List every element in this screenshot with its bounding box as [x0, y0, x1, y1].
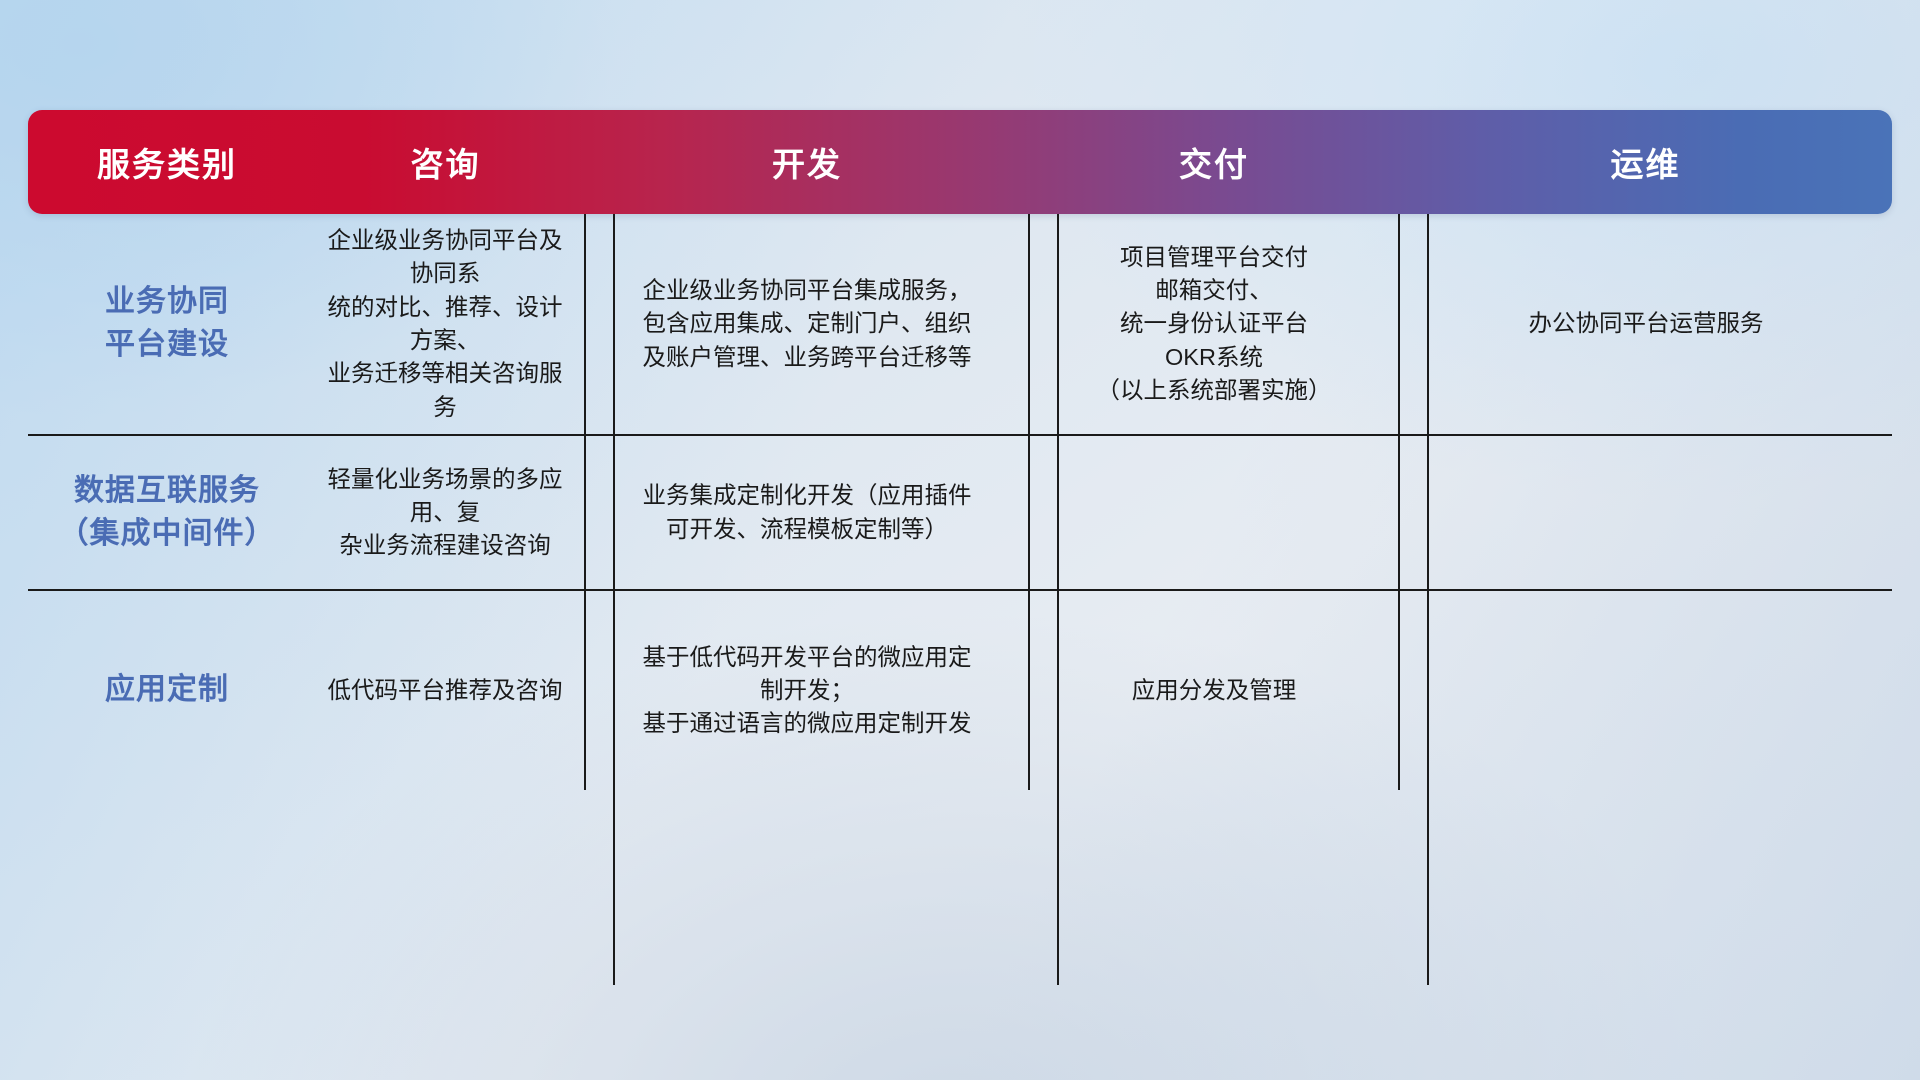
column-divider-1 — [613, 214, 615, 985]
cell-operate-1: 办公协同平台运营服务 — [1399, 214, 1892, 435]
cell-category-2: 数据互联服务 （集成中间件） — [28, 435, 306, 590]
table-row: 数据互联服务 （集成中间件） 轻量化业务场景的多应用、复 杂业务流程建设咨询 业… — [28, 435, 1892, 590]
slide-canvas: 服务类别 咨询 开发 交付 运维 业务协同 平台建设 企业级业务协同平台及协同系… — [0, 0, 1920, 1080]
cell-consult-3: 低代码平台推荐及咨询 — [306, 590, 585, 790]
cell-category-3: 应用定制 — [28, 590, 306, 790]
service-matrix-table: 业务协同 平台建设 企业级业务协同平台及协同系 统的对比、推荐、设计方案、 业务… — [28, 110, 1892, 790]
cell-consult-1: 企业级业务协同平台及协同系 统的对比、推荐、设计方案、 业务迁移等相关咨询服务 — [306, 214, 585, 435]
cell-consult-2: 轻量化业务场景的多应用、复 杂业务流程建设咨询 — [306, 435, 585, 590]
cell-category-1: 业务协同 平台建设 — [28, 214, 306, 435]
cell-develop-1: 企业级业务协同平台集成服务， 包含应用集成、定制门户、组织 及账户管理、业务跨平… — [585, 214, 1029, 435]
th-category — [28, 110, 306, 214]
cell-deliver-2 — [1029, 435, 1399, 590]
th-operate — [1399, 110, 1892, 214]
cell-operate-3 — [1399, 590, 1892, 790]
th-develop — [585, 110, 1029, 214]
cell-develop-2: 业务集成定制化开发（应用插件 可开发、流程模板定制等） — [585, 435, 1029, 590]
cell-deliver-3: 应用分发及管理 — [1029, 590, 1399, 790]
cell-develop-3: 基于低代码开发平台的微应用定 制开发； 基于通过语言的微应用定制开发 — [585, 590, 1029, 790]
th-deliver — [1029, 110, 1399, 214]
th-consult — [306, 110, 585, 214]
table-header-row — [28, 110, 1892, 214]
column-divider-2 — [1057, 214, 1059, 985]
cell-deliver-1: 项目管理平台交付 邮箱交付、 统一身份认证平台 OKR系统 （以上系统部署实施） — [1029, 214, 1399, 435]
column-divider-3 — [1427, 214, 1429, 985]
table-row: 业务协同 平台建设 企业级业务协同平台及协同系 统的对比、推荐、设计方案、 业务… — [28, 214, 1892, 435]
table-row: 应用定制 低代码平台推荐及咨询 基于低代码开发平台的微应用定 制开发； 基于通过… — [28, 590, 1892, 790]
cell-operate-2 — [1399, 435, 1892, 590]
